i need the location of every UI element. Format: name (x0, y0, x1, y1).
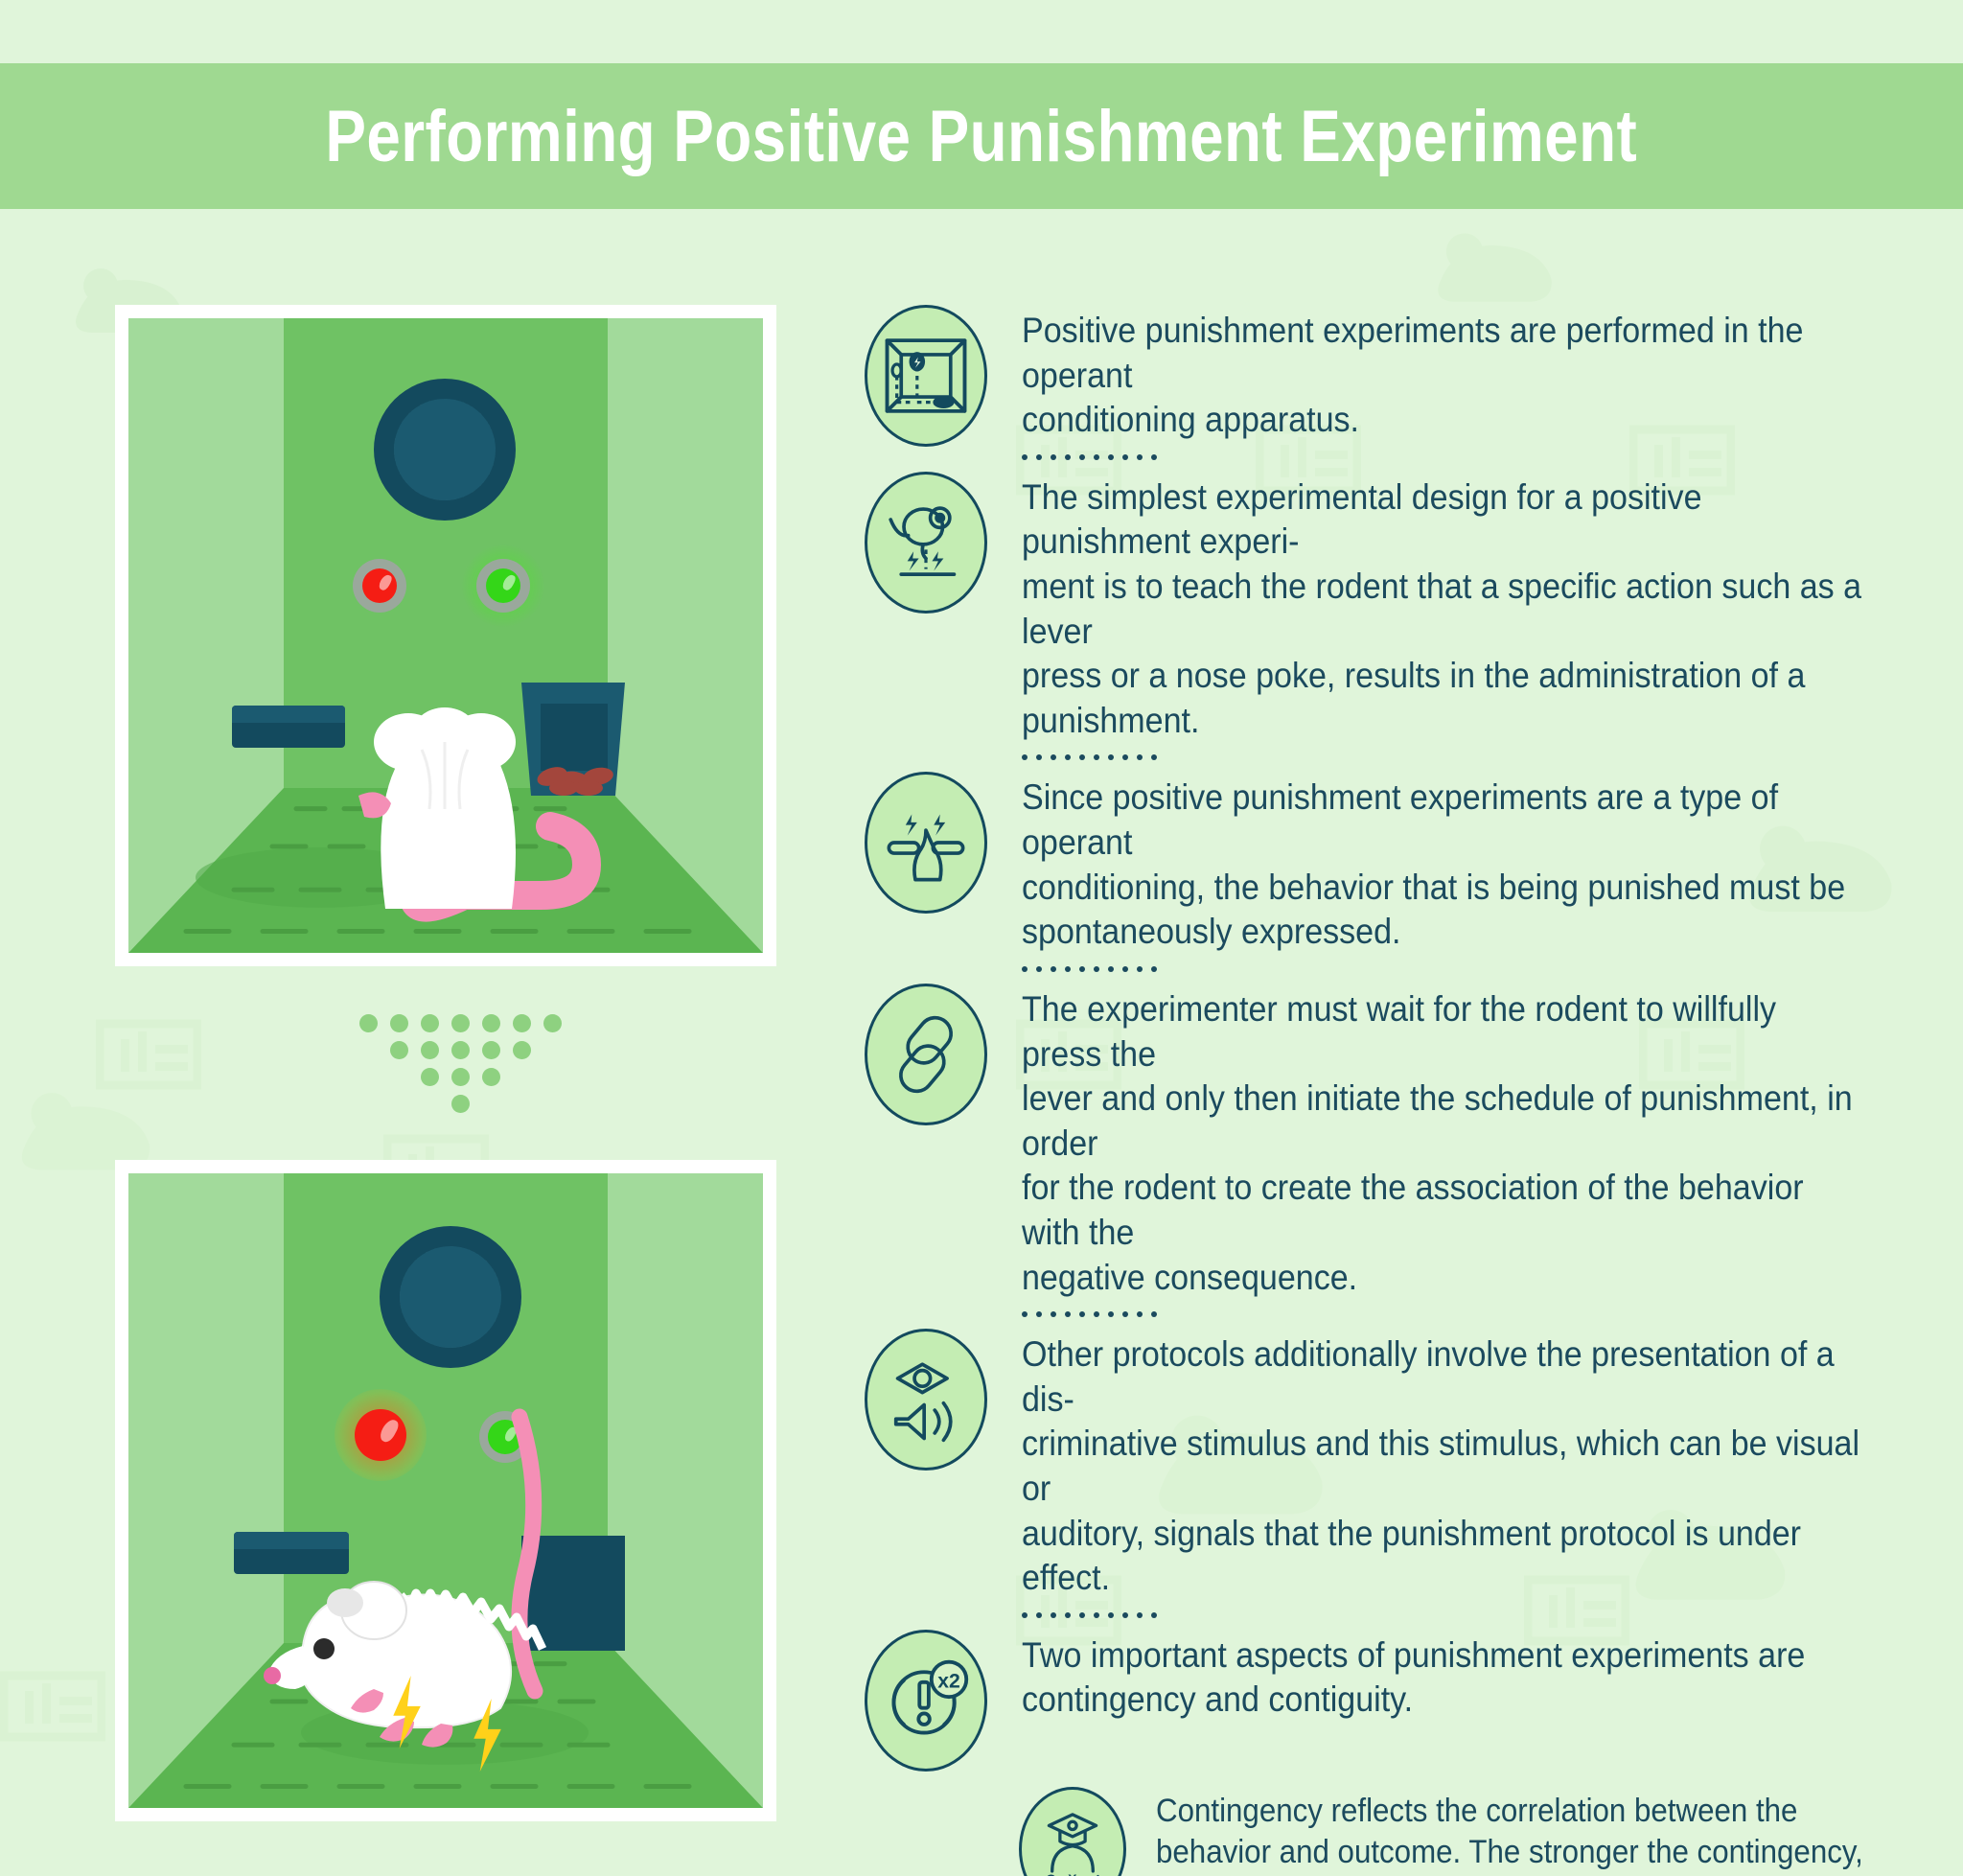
mouse-shock-glyph (882, 498, 970, 587)
step-text: Since positive punishment experiments ar… (1022, 776, 1863, 954)
exclamation-x2-glyph: x2 (880, 1655, 972, 1747)
step-item-1: Positive punishment experiments are perf… (863, 305, 1936, 472)
dot-row (421, 1068, 500, 1086)
icon-slot (863, 305, 989, 447)
step-item-5: Other protocols additionally involve the… (863, 1329, 1936, 1630)
step-text-block: Contingency reflects the correlation bet… (1156, 1787, 1936, 1876)
step-text-block: Other protocols additionally involve the… (1022, 1329, 1936, 1630)
chamber-scene-before (128, 318, 763, 953)
chamber-scene-after (128, 1173, 763, 1808)
operant-chamber-glyph (882, 332, 970, 420)
step-text: Positive punishment experiments are perf… (1022, 309, 1863, 443)
step-item-6: x2 Two important aspects of punishment e… (863, 1630, 1936, 1772)
green-indicator-light (476, 559, 530, 613)
mouse-shock-icon (865, 472, 987, 614)
downward-dot-arrow (374, 1014, 546, 1113)
page-title: Performing Positive Punishment Experimen… (326, 95, 1638, 178)
spontaneous-behavior-icon (865, 772, 987, 914)
step-text: Contingency reflects the correlation bet… (1156, 1791, 1874, 1876)
step-separator (1022, 754, 1936, 760)
step-separator (1022, 454, 1936, 460)
chain-link-glyph (882, 1010, 970, 1099)
step-item-7: O X ✓ Contingency reflects the correlati… (1016, 1787, 1936, 1876)
brand-watermark-logo (0, 1668, 105, 1745)
led-bulb (355, 1409, 406, 1461)
eye-speaker-icon (865, 1329, 987, 1471)
speaker-icon (380, 1226, 521, 1368)
brand-watermark-logo (96, 1016, 201, 1093)
steps-list: Positive punishment experiments are perf… (863, 305, 1936, 1876)
illustration-panel-before (115, 305, 776, 966)
mouse-watermark (1419, 201, 1572, 316)
step-text-block: Two important aspects of punishment expe… (1022, 1630, 1936, 1723)
dot-row (390, 1041, 531, 1059)
infographic-page: Performing Positive Punishment Experimen… (0, 0, 1963, 1876)
dot-row (359, 1014, 562, 1032)
icon-slot (863, 772, 989, 914)
icon-slot (863, 472, 989, 614)
illustration-panel-after (115, 1160, 776, 1821)
speaker-icon (374, 379, 516, 521)
step-separator (1022, 1612, 1936, 1618)
mouse-side-view (243, 1507, 569, 1775)
step-item-3: Since positive punishment experiments ar… (863, 772, 1936, 983)
step-text-block: The simplest experimental design for a p… (1022, 472, 1936, 773)
icon-slot (863, 984, 989, 1125)
step-text-block: The experimenter must wait for the roden… (1022, 984, 1936, 1329)
eye-speaker-glyph (882, 1355, 970, 1444)
mouse-rear-view (224, 635, 675, 932)
x-mark: X (1068, 1871, 1077, 1876)
check-mark: ✓ (1090, 1871, 1101, 1876)
step-text: The experimenter must wait for the roden… (1022, 987, 1863, 1300)
step-separator (1022, 966, 1936, 972)
step-text: Two important aspects of punishment expe… (1022, 1633, 1863, 1723)
speaker-grid (400, 1246, 502, 1349)
graduate-outcome-icon: O X ✓ (1019, 1787, 1126, 1876)
title-banner: Performing Positive Punishment Experimen… (0, 63, 1963, 209)
x2-badge-text: x2 (937, 1670, 959, 1692)
step-text: Other protocols additionally involve the… (1022, 1332, 1863, 1601)
speaker-grid (394, 399, 497, 501)
o-mark: O (1046, 1871, 1056, 1876)
step-text-block: Positive punishment experiments are perf… (1022, 305, 1936, 472)
operant-chamber-icon (865, 305, 987, 447)
graduate-outcome-glyph: O X ✓ (1033, 1810, 1112, 1876)
step-separator (1022, 1311, 1936, 1317)
chain-link-icon (865, 984, 987, 1125)
exclamation-x2-icon: x2 (865, 1630, 987, 1772)
step-text-block: Since positive punishment experiments ar… (1022, 772, 1936, 983)
dot-row (451, 1095, 470, 1113)
icon-slot (863, 1329, 989, 1471)
red-indicator-light (353, 559, 406, 613)
step-item-4: The experimenter must wait for the roden… (863, 984, 1936, 1329)
icon-slot: O X ✓ (1016, 1787, 1129, 1876)
step-text: The simplest experimental design for a p… (1022, 475, 1863, 744)
spontaneous-behavior-glyph (882, 799, 970, 887)
red-indicator-light (355, 1409, 406, 1461)
icon-slot: x2 (863, 1630, 989, 1772)
step-item-2: The simplest experimental design for a p… (863, 472, 1936, 773)
